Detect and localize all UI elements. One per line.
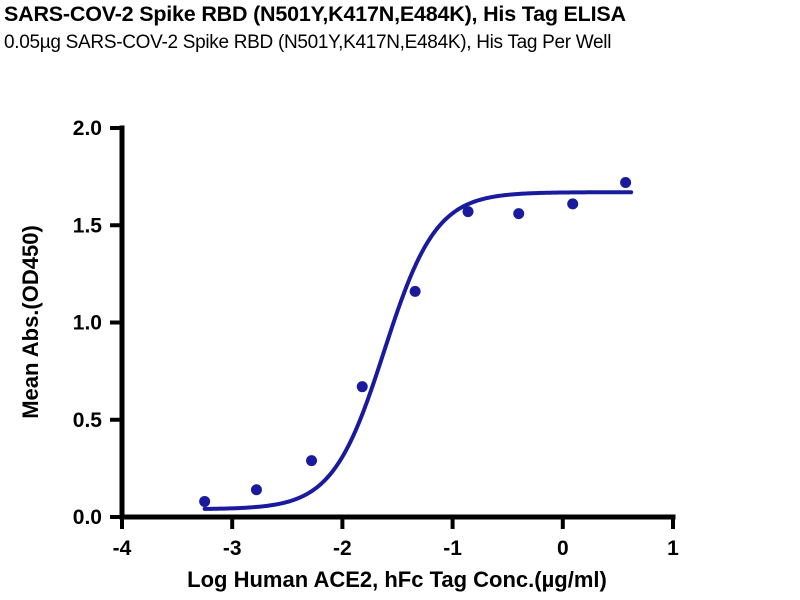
x-axis-title: Log Human ACE2, hFc Tag Conc.(µg/ml) <box>187 567 607 592</box>
y-tick-label: 1.0 <box>73 312 102 335</box>
data-point <box>251 484 262 495</box>
x-axis-ticks: -4-3-2-101 <box>113 517 680 560</box>
y-axis-ticks: 0.00.51.01.52.0 <box>73 117 122 529</box>
data-point <box>306 455 317 466</box>
data-point <box>199 496 210 507</box>
y-tick-label: 1.5 <box>73 214 103 237</box>
elisa-binding-curve-plot: -4-3-2-101 0.00.51.01.52.0 Log Human ACE… <box>0 0 800 600</box>
fit-curve <box>205 192 631 509</box>
x-tick-label: -4 <box>113 537 132 560</box>
x-tick-label: 0 <box>557 537 569 560</box>
y-axis-title: Mean Abs.(OD450) <box>18 225 43 419</box>
x-tick-label: -1 <box>443 537 462 560</box>
y-tick-label: 2.0 <box>73 117 102 140</box>
plot-axes <box>122 128 673 517</box>
y-tick-label: 0.0 <box>73 506 102 529</box>
data-point-group <box>199 177 631 507</box>
x-tick-label: 1 <box>667 537 679 560</box>
x-tick-label: -3 <box>223 537 242 560</box>
data-point <box>567 198 578 209</box>
x-tick-label: -2 <box>333 537 352 560</box>
data-point <box>357 381 368 392</box>
data-point <box>513 208 524 219</box>
chart-figure: SARS-COV-2 Spike RBD (N501Y,K417N,E484K)… <box>0 0 800 600</box>
y-tick-label: 0.5 <box>73 409 103 432</box>
data-point <box>410 286 421 297</box>
data-point <box>463 206 474 217</box>
data-point <box>620 177 631 188</box>
